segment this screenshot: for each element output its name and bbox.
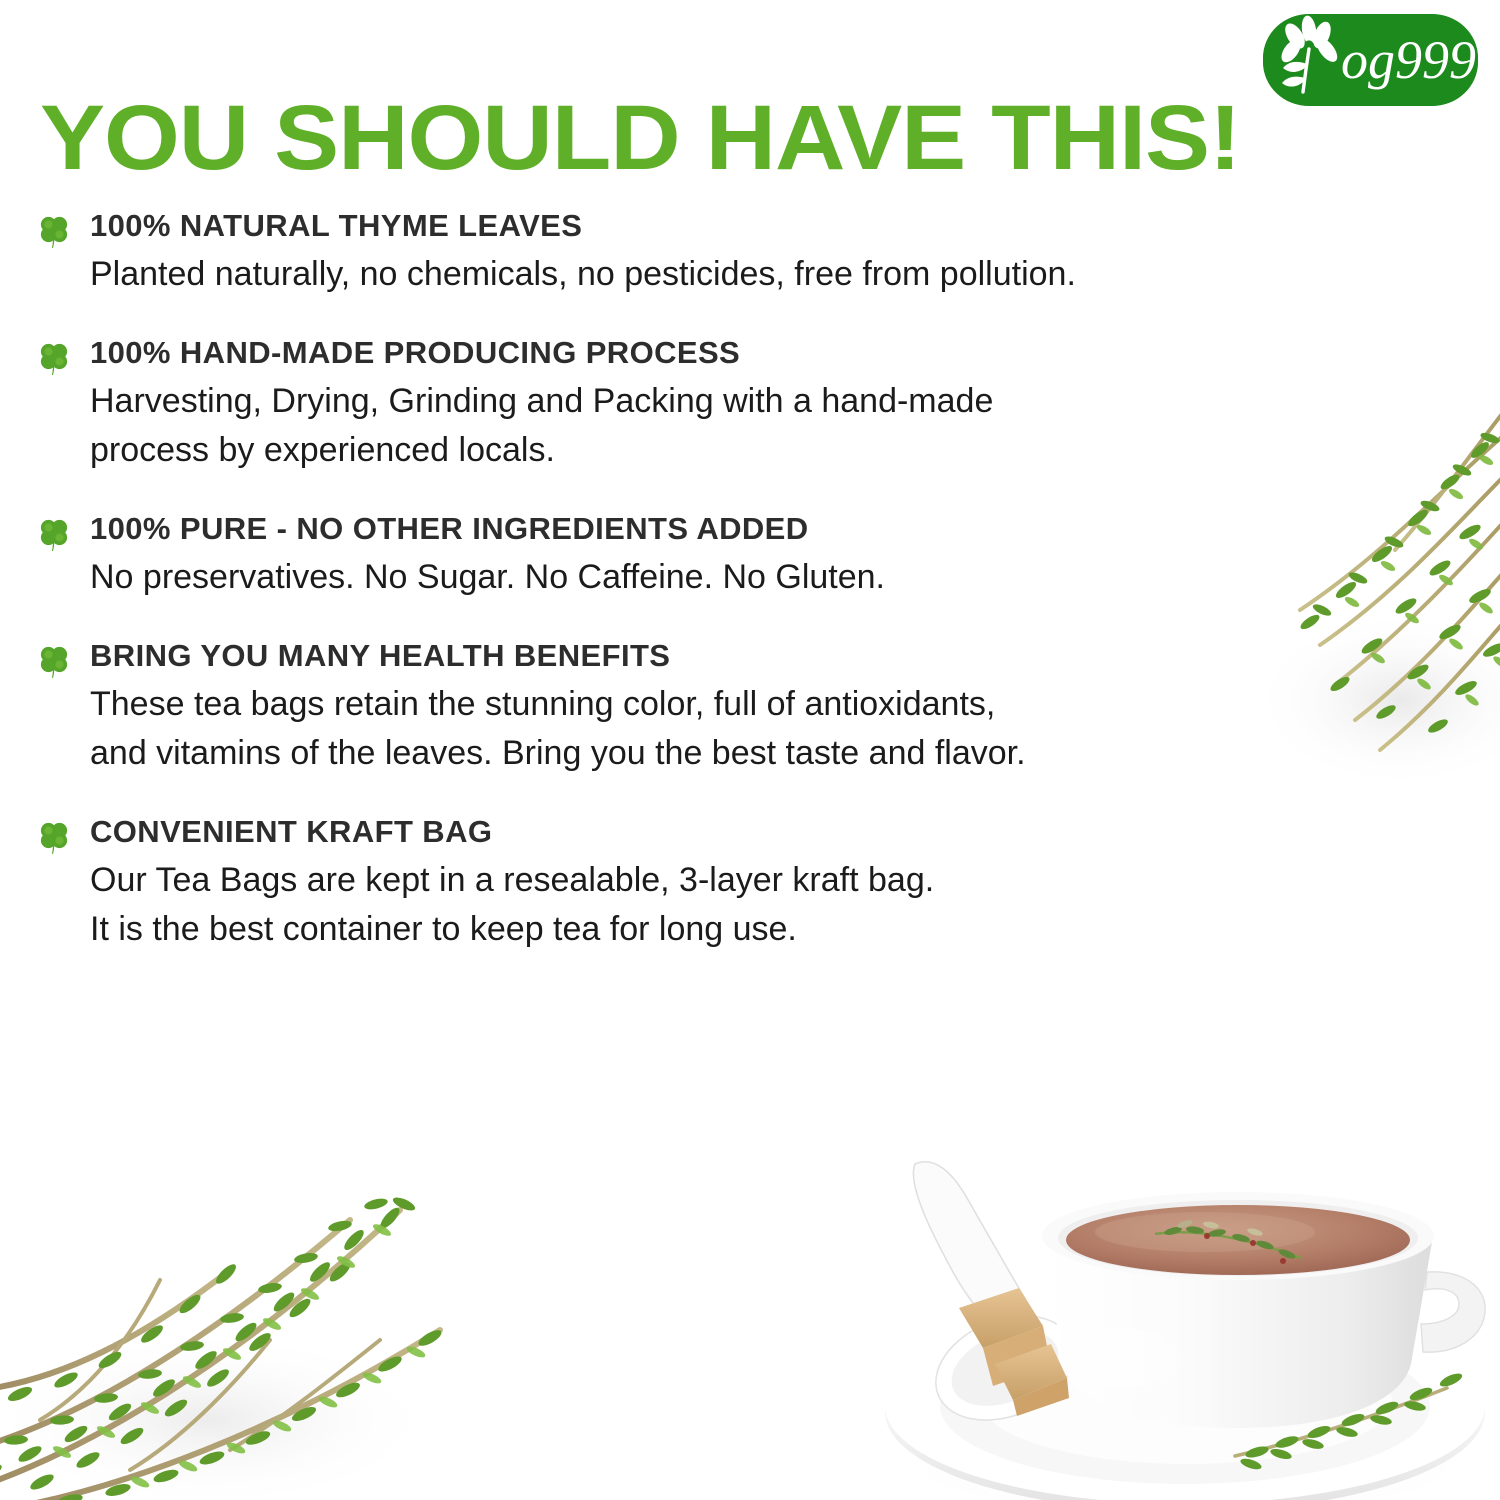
feature-body: These tea bags retain the stunning color… [90, 680, 1438, 778]
list-item: CONVENIENT KRAFT BAG Our Tea Bags are ke… [38, 814, 1438, 954]
feature-body-line: Our Tea Bags are kept in a resealable, 3… [90, 856, 1438, 905]
thyme-garnish [1235, 1371, 1464, 1471]
clover-icon [38, 214, 70, 248]
feature-body: No preservatives. No Sugar. No Caffeine.… [90, 553, 1438, 602]
feature-title: CONVENIENT KRAFT BAG [90, 814, 1438, 850]
feature-body: Harvesting, Drying, Grinding and Packing… [90, 377, 1438, 475]
clover-icon [38, 820, 70, 854]
feature-body-line: Harvesting, Drying, Grinding and Packing… [90, 377, 1438, 426]
list-item: 100% NATURAL THYME LEAVES Planted natura… [38, 208, 1438, 299]
tea-liquid [1066, 1205, 1410, 1275]
page-title: YOU SHOULD HAVE THIS! [40, 92, 1240, 184]
feature-title: 100% HAND-MADE PRODUCING PROCESS [90, 335, 1438, 371]
list-item: 100% HAND-MADE PRODUCING PROCESS Harvest… [38, 335, 1438, 475]
feature-body-line: It is the best container to keep tea for… [90, 905, 1438, 954]
logo-wordmark: og999 [1341, 30, 1476, 90]
feature-body: Planted naturally, no chemicals, no pest… [90, 250, 1438, 299]
feature-body-line: and vitamins of the leaves. Bring you th… [90, 729, 1438, 778]
thyme-sprigs-left-image [0, 1090, 510, 1500]
clover-icon [38, 644, 70, 678]
feature-list: 100% NATURAL THYME LEAVES Planted natura… [38, 208, 1438, 954]
clover-icon [38, 341, 70, 375]
feature-title: 100% NATURAL THYME LEAVES [90, 208, 1438, 244]
teacup-illustration [855, 1112, 1500, 1500]
feature-body-line: These tea bags retain the stunning color… [90, 680, 1438, 729]
feature-body-line: process by experienced locals. [90, 426, 1438, 475]
spoon-icon [913, 1162, 1089, 1440]
feature-body-line: No preservatives. No Sugar. No Caffeine.… [90, 553, 1438, 602]
feature-title: BRING YOU MANY HEALTH BENEFITS [90, 638, 1438, 674]
floating-thyme [1155, 1219, 1301, 1264]
infographic-page: og999 [0, 0, 1500, 1500]
feature-body: Our Tea Bags are kept in a resealable, 3… [90, 856, 1438, 954]
list-item: BRING YOU MANY HEALTH BENEFITS These tea… [38, 638, 1438, 778]
feature-title: 100% PURE - NO OTHER INGREDIENTS ADDED [90, 511, 1438, 547]
thyme-illustration-left [0, 1090, 510, 1500]
sugar-cubes [959, 1288, 1069, 1416]
feature-body-line: Planted naturally, no chemicals, no pest… [90, 250, 1438, 299]
list-item: 100% PURE - NO OTHER INGREDIENTS ADDED N… [38, 511, 1438, 602]
teacup [1042, 1192, 1485, 1428]
teacup-image [855, 1112, 1500, 1500]
logo-artwork: og999 [1263, 14, 1478, 106]
clover-icon [38, 517, 70, 551]
brand-logo: og999 [1263, 14, 1478, 106]
